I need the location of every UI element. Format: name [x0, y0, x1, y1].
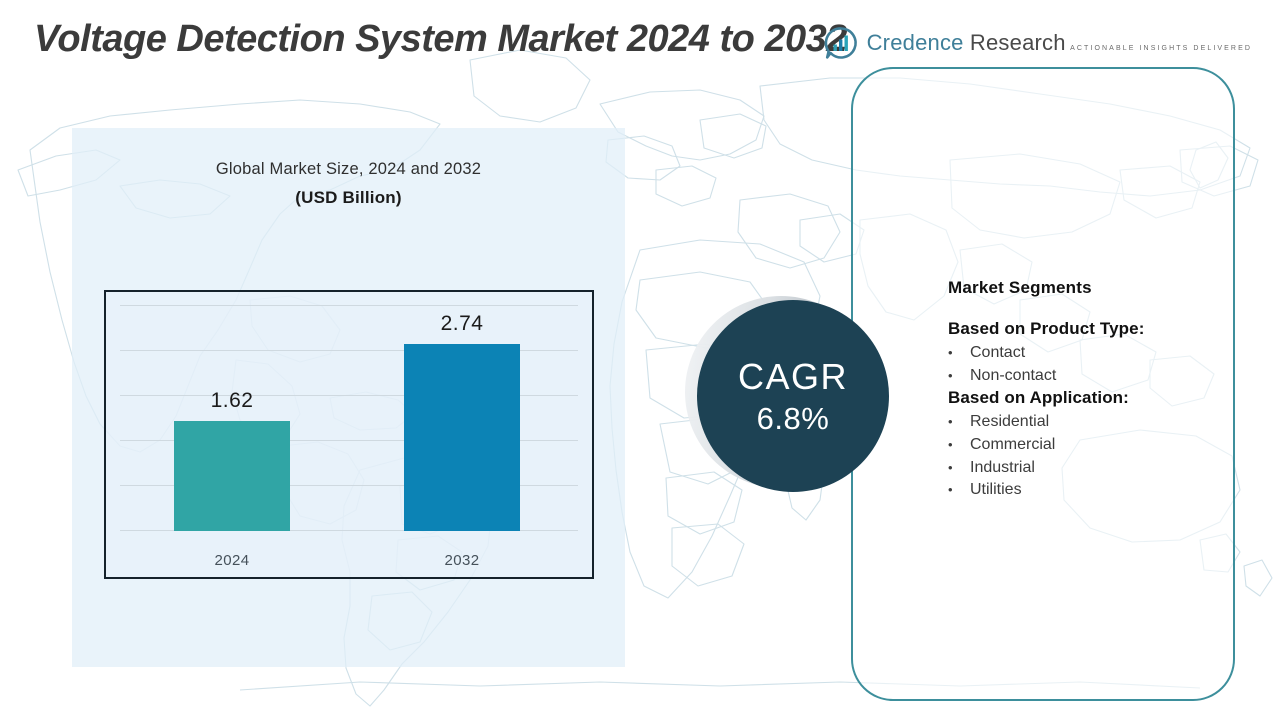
- brand-logo: Credence Research Actionable Insights De…: [824, 26, 1252, 60]
- brand-name-part1: Credence: [867, 30, 964, 55]
- cagr-label: CAGR: [738, 359, 848, 395]
- segment-group-title: Based on Application:: [948, 388, 1238, 408]
- cagr-circle: CAGR 6.8%: [697, 300, 889, 492]
- segment-item: •Industrial: [948, 457, 1238, 480]
- segment-item: •Contact: [948, 342, 1238, 365]
- bar-label-2032: 2032: [404, 552, 520, 569]
- segment-item-label: Non-contact: [970, 365, 1056, 388]
- cagr-badge: CAGR 6.8%: [697, 300, 889, 492]
- market-segments-groups: Based on Product Type:•Contact•Non-conta…: [948, 319, 1238, 502]
- market-segments-content: Market Segments Based on Product Type:•C…: [948, 278, 1238, 502]
- segment-item-label: Industrial: [970, 457, 1035, 480]
- bullet-icon: •: [948, 344, 970, 363]
- bullet-icon: •: [948, 413, 970, 432]
- bullet-icon: •: [948, 436, 970, 455]
- segment-item-label: Commercial: [970, 434, 1055, 457]
- bar-2024: [174, 421, 290, 531]
- brand-name: Credence Research: [867, 30, 1066, 55]
- segment-item-label: Residential: [970, 411, 1049, 434]
- segment-item: •Utilities: [948, 479, 1238, 502]
- bar-chart: 1.6220242.742032: [104, 290, 594, 579]
- segment-group-title: Based on Product Type:: [948, 319, 1238, 339]
- brand-tagline: Actionable Insights Delivered: [1070, 45, 1252, 52]
- bullet-icon: •: [948, 459, 970, 478]
- bar-group: 1.622024: [174, 421, 290, 531]
- cagr-value: 6.8%: [757, 403, 830, 434]
- segment-item: •Non-contact: [948, 365, 1238, 388]
- chart-heading-line1: Global Market Size, 2024 and 2032: [72, 160, 625, 179]
- bullet-icon: •: [948, 367, 970, 386]
- bar-chart-bubble-icon: [824, 26, 858, 60]
- chart-heading: Global Market Size, 2024 and 2032 (USD B…: [72, 160, 625, 208]
- bar-value-2024: 1.62: [174, 389, 290, 413]
- brand-name-part2: Research: [964, 30, 1066, 55]
- bullet-icon: •: [948, 481, 970, 500]
- segment-group: Based on Application:•Residential•Commer…: [948, 388, 1238, 503]
- market-segments-title: Market Segments: [948, 278, 1238, 298]
- segment-item-label: Contact: [970, 342, 1025, 365]
- chart-plot-area: 1.6220242.742032: [106, 292, 592, 577]
- bar-2032: [404, 344, 520, 531]
- bar-value-2032: 2.74: [404, 312, 520, 336]
- segment-group: Based on Product Type:•Contact•Non-conta…: [948, 319, 1238, 388]
- bar-group: 2.742032: [404, 344, 520, 531]
- segment-item-label: Utilities: [970, 479, 1022, 502]
- segment-item: •Commercial: [948, 434, 1238, 457]
- segment-item: •Residential: [948, 411, 1238, 434]
- page-title: Voltage Detection System Market 2024 to …: [34, 18, 847, 61]
- bar-label-2024: 2024: [174, 552, 290, 569]
- chart-heading-line2: (USD Billion): [72, 188, 625, 208]
